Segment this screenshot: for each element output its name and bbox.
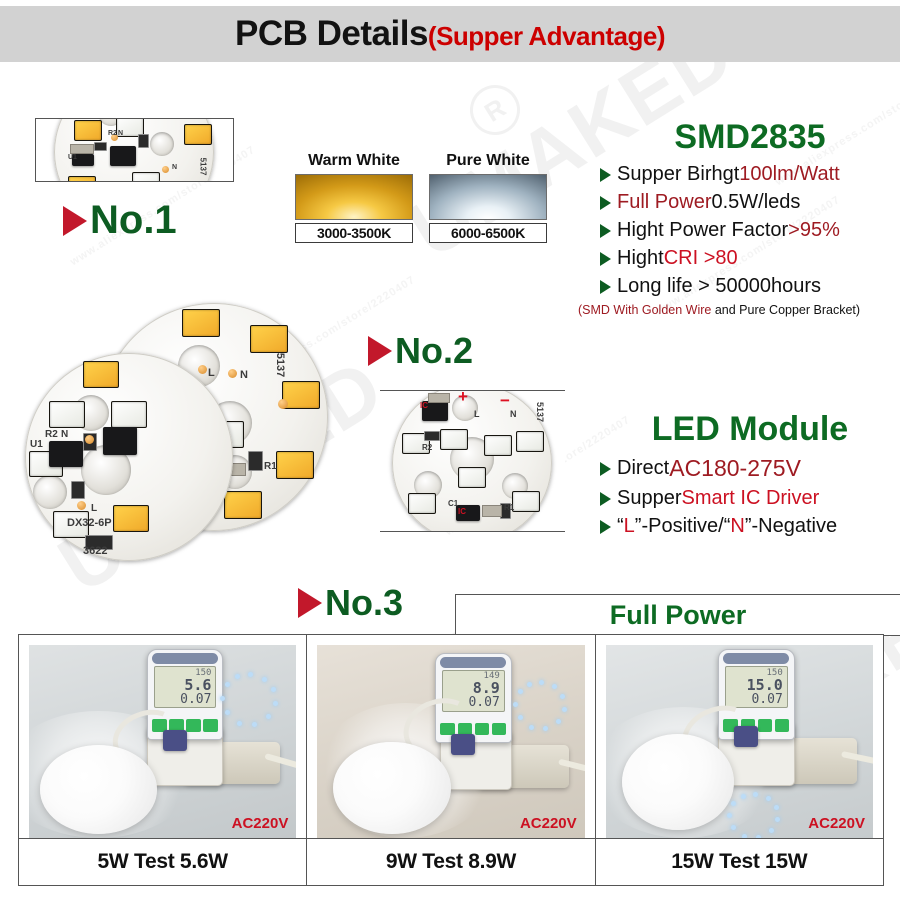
lcd-line-1: 149	[447, 672, 500, 681]
silk-n: N	[172, 164, 177, 171]
power-test-row: 150 5.6 0.07 AC220V 5W Test 5.6W	[18, 634, 884, 886]
smd-spec-item: Long life > 50000hours	[600, 275, 900, 298]
voltage-label: AC220V	[520, 815, 577, 832]
triangle-marker-icon	[298, 588, 322, 618]
module-spec-item: Direct AC180-275V	[600, 455, 900, 482]
silk-l: L	[208, 367, 215, 379]
silk-ic: IC	[420, 401, 428, 410]
module-spec-item-value: AC180-275V	[669, 455, 801, 482]
module-spec-item-ln: “L”-Positive/“N”-Negative	[600, 515, 900, 538]
full-power-header: Full Power	[455, 594, 900, 636]
module-spec-item: Supper Smart IC Driver	[600, 487, 900, 510]
ln-quote-open: “	[617, 515, 624, 538]
smd-spec-footnote-red: (SMD With Golden Wire	[578, 303, 711, 317]
swatch-kelvin: 3000-3500K	[295, 223, 413, 243]
voltage-label: AC220V	[808, 815, 865, 832]
page-header: PCB Details(Supper Advantage)	[0, 6, 900, 62]
silk-r2: R2	[422, 443, 432, 452]
swatch-kelvin: 6000-6500K	[429, 223, 547, 243]
silk-r1: R1	[264, 461, 277, 472]
lcd-line-1: 150	[159, 669, 212, 678]
power-test-photo: 149 8.9 0.07 AC220V	[317, 645, 584, 838]
smd-spec-item: Hight Power Factor >95%	[600, 219, 900, 242]
power-test-caption: 15W Test 15W	[596, 838, 883, 885]
swatch-title: Pure White	[429, 152, 547, 170]
triangle-marker-icon	[368, 336, 392, 366]
power-test-cell: 150 15.0 0.07 AC220V 15W Test 15W	[596, 635, 883, 885]
silk-minus: −	[500, 391, 510, 411]
bullet-triangle-icon	[600, 280, 611, 294]
smd-spec-item-label: Long life > 50000hours	[617, 275, 821, 298]
power-meter-lcd: 150 5.6 0.07	[154, 666, 217, 709]
swatch-warm-white: Warm White 3000-3500K	[295, 152, 413, 243]
bullet-triangle-icon	[600, 492, 611, 506]
label-no3: No.3	[298, 582, 403, 624]
page-title: PCB Details(Supper Advantage)	[235, 14, 665, 54]
voltage-label: AC220V	[232, 815, 289, 832]
smd-spec-item-label: Full Power	[617, 191, 711, 214]
smd-spec-item-value: 0.5W/leds	[711, 191, 800, 214]
power-test-photo: 150 5.6 0.07 AC220V	[29, 645, 296, 838]
power-test-photo: 150 15.0 0.07 AC220V	[606, 645, 873, 838]
silk-u1: U1	[30, 439, 43, 450]
swatch-color-warm	[295, 174, 413, 220]
bullet-triangle-icon	[600, 196, 611, 210]
pcb-closeup-no1: R2 N N U1 5137	[35, 118, 234, 182]
pcb-board-front: R2 N L U1 DX32-6P 3622	[25, 353, 233, 561]
pcb-board: IC IC + − L N R2 R1 C1 5137	[392, 390, 552, 532]
lcd-line-2: 5.6	[159, 678, 212, 693]
label-no2-text: No.2	[395, 330, 473, 372]
ln-end: ”-Negative	[745, 515, 837, 538]
smd-spec-footnote: (SMD With Golden Wire and Pure Copper Br…	[578, 303, 900, 317]
silk-board-code: 5137	[198, 158, 207, 176]
label-no1: No.1	[63, 198, 177, 243]
color-temperature-swatches: Warm White 3000-3500K Pure White 6000-65…	[295, 152, 547, 243]
page-title-sub: (Supper Advantage)	[428, 21, 665, 51]
silk-board-code: 5137	[535, 402, 545, 422]
pcb-pair-photo: L N 5137 R1 R2 N L U1	[15, 295, 335, 575]
smd-spec-item: Hight CRI >80	[600, 247, 900, 270]
smd-spec-item-label: Hight Power Factor	[617, 219, 788, 242]
smd-spec-footnote-black: and Pure Copper Bracket)	[711, 303, 860, 317]
silk-r1: R1	[504, 503, 514, 512]
lcd-line-1: 150	[730, 669, 783, 678]
label-no2: No.2	[368, 330, 473, 372]
silk-n: N	[118, 130, 123, 137]
power-test-cell: 149 8.9 0.07 AC220V 9W Test 8.9W	[307, 635, 595, 885]
module-spec-item-label: Supper	[617, 487, 682, 510]
lcd-line-2: 15.0	[730, 678, 783, 693]
registered-mark-icon: R	[461, 76, 530, 145]
bullet-triangle-icon	[600, 520, 611, 534]
silk-u1: U1	[68, 154, 77, 161]
smd-spec-item-value: CRI >80	[664, 247, 738, 270]
triangle-marker-icon	[63, 206, 87, 236]
ln-letter-n: N	[730, 515, 744, 538]
smd-spec-item: Supper Birhgt 100lm/Watt	[600, 163, 900, 186]
ln-quote-open-2: “	[724, 515, 731, 538]
module-spec-item-value: Smart IC Driver	[682, 487, 820, 510]
silk-r2: R2	[108, 130, 117, 137]
ln-letter-l: L	[624, 515, 635, 538]
silk-n: N	[240, 369, 248, 381]
swatch-title: Warm White	[295, 152, 413, 170]
lcd-line-2: 8.9	[447, 681, 500, 696]
power-test-caption: 5W Test 5.6W	[19, 838, 306, 885]
silk-n: N	[61, 429, 68, 440]
silk-l: L	[91, 503, 97, 514]
bullet-triangle-icon	[600, 168, 611, 182]
label-no1-text: No.1	[90, 198, 177, 243]
smd-spec-item-value: >95%	[788, 219, 840, 242]
lcd-line-3: 0.07	[159, 693, 212, 706]
swatch-pure-white: Pure White 6000-6500K	[429, 152, 547, 243]
silk-board-code-2: DX32-6P	[67, 517, 112, 529]
smd-spec-item-label: Hight	[617, 247, 664, 270]
swatch-color-cool	[429, 174, 547, 220]
bullet-triangle-icon	[600, 462, 611, 476]
module-spec-block: LED Module Direct AC180-275V Supper Smar…	[600, 410, 900, 543]
smd-spec-item: Full Power 0.5W/leds	[600, 191, 900, 214]
silk-c1: C1	[448, 499, 458, 508]
silk-board-code: 5137	[274, 353, 286, 377]
full-power-label: Full Power	[610, 600, 747, 631]
infographic-page: UMAKED UMAKED UMAKED UMAKED R R R www.al…	[0, 0, 900, 900]
page-title-main: PCB Details	[235, 14, 428, 53]
power-meter-lcd: 150 15.0 0.07	[725, 666, 788, 709]
pcb-closeup-no2: IC IC + − L N R2 R1 C1 5137	[380, 390, 565, 532]
smd-spec-item-value: 100lm/Watt	[739, 163, 839, 186]
bullet-triangle-icon	[600, 252, 611, 266]
lcd-line-3: 0.07	[730, 693, 783, 706]
module-spec-title: LED Module	[600, 410, 900, 449]
pcb-board: R2 N N U1 5137	[54, 118, 214, 182]
silk-plus: +	[458, 390, 468, 407]
bullet-triangle-icon	[600, 224, 611, 238]
silk-r2: R2	[45, 429, 58, 440]
silk-ic: IC	[458, 507, 466, 516]
power-test-caption: 9W Test 8.9W	[307, 838, 594, 885]
silk-board-code-3: 3622	[83, 545, 107, 557]
smd-spec-item-label: Supper Birhgt	[617, 163, 739, 186]
power-test-cell: 150 5.6 0.07 AC220V 5W Test 5.6W	[19, 635, 307, 885]
silk-l: L	[474, 409, 480, 419]
ln-mid: ”-Positive/	[635, 515, 724, 538]
smd-spec-title: SMD2835	[600, 118, 900, 157]
module-spec-item-label: Direct	[617, 457, 669, 480]
smd-spec-block: SMD2835 Supper Birhgt 100lm/Watt Full Po…	[600, 118, 900, 317]
label-no3-text: No.3	[325, 582, 403, 624]
silk-n: N	[510, 409, 517, 419]
